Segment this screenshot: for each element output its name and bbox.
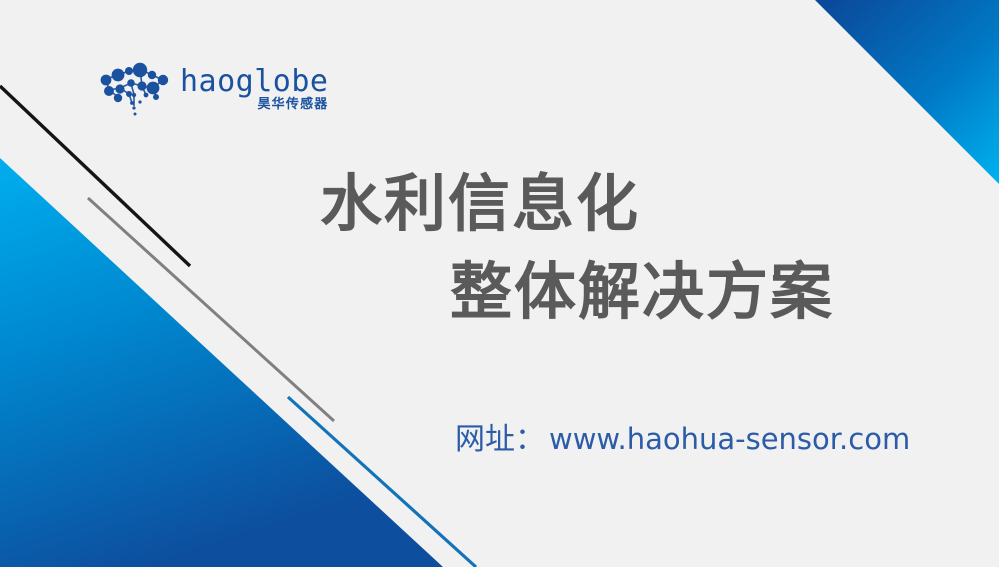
title-slide: haoglobe 昊华传感器 水利信息化 整体解决方案 网址： www.haoh… — [0, 0, 999, 567]
logo-subtitle: 昊华传感器 — [257, 98, 328, 112]
page-title: 水利信息化 整体解决方案 — [300, 160, 960, 336]
website-row: 网址： www.haohua-sensor.com — [455, 420, 910, 459]
company-logo: haoglobe 昊华传感器 — [96, 58, 312, 120]
title-line-2: 整体解决方案 — [300, 248, 960, 336]
network-nodes-icon — [96, 61, 174, 117]
website-url[interactable]: www.haohua-sensor.com — [549, 420, 910, 458]
website-label: 网址： — [455, 421, 545, 459]
logo-text-group: haoglobe 昊华传感器 — [180, 67, 329, 112]
title-line-1: 水利信息化 — [300, 160, 960, 248]
logo-wordmark: haoglobe — [180, 67, 329, 97]
